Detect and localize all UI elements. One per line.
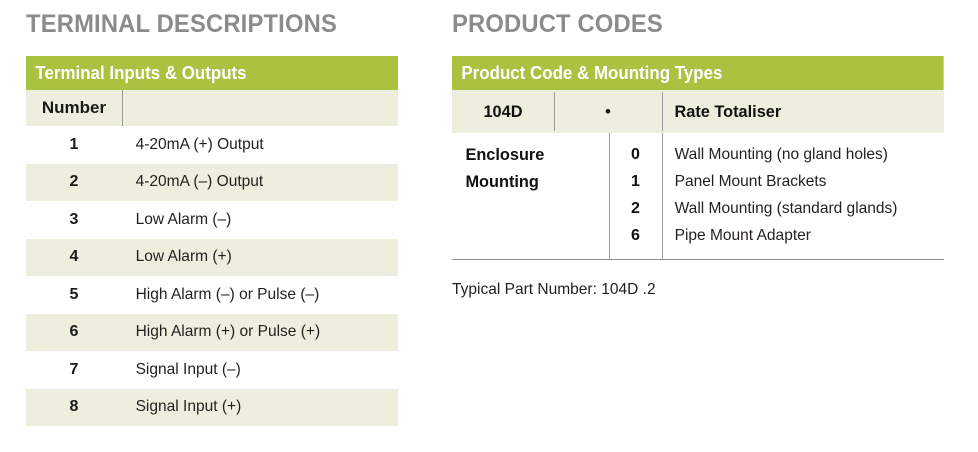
- group-title: Enclosure Mounting: [452, 141, 603, 249]
- list-item: 1 Panel Mount Brackets: [609, 168, 944, 195]
- terminal-number: 4: [26, 248, 122, 266]
- product-code-row: 104D • Rate Totaliser: [452, 90, 944, 133]
- typical-part-number: Typical Part Number: 104D .2: [452, 281, 656, 299]
- enclosure-mounting-group: Enclosure Mounting 0 Wall Mounting (no g…: [452, 133, 944, 259]
- option-code: 1: [609, 173, 662, 191]
- table-row: 4 Low Alarm (+): [26, 239, 398, 277]
- product-code-value: 104D: [454, 102, 552, 122]
- terminal-description: 4-20mA (+) Output: [122, 136, 390, 154]
- terminal-description: High Alarm (+) or Pulse (+): [122, 323, 390, 341]
- product-code-description: Rate Totaliser: [662, 102, 933, 122]
- page-root: TERMINAL DESCRIPTIONS Terminal Inputs & …: [0, 0, 978, 452]
- product-table-bottom-rule: [452, 259, 944, 260]
- terminal-number: 3: [26, 211, 122, 229]
- option-text: Wall Mounting (standard glands): [662, 200, 936, 218]
- group-title-line-2: Mounting: [465, 168, 602, 195]
- option-code: 2: [609, 200, 662, 218]
- product-code-mounting-types-table: Product Code & Mounting Types 104D • Rat…: [452, 56, 944, 260]
- terminal-number: 7: [26, 361, 122, 379]
- table-row: 1 4-20mA (+) Output: [26, 126, 398, 164]
- table-row: 6 High Alarm (+) or Pulse (+): [26, 314, 398, 352]
- terminal-table-column-header-row: Number: [26, 90, 398, 126]
- table-row: 3 Low Alarm (–): [26, 201, 398, 239]
- product-table-banner-wrap: Product Code & Mounting Types: [452, 56, 944, 90]
- terminal-number: 6: [26, 323, 122, 341]
- group-title-line-1: Enclosure: [465, 141, 602, 168]
- terminal-number: 1: [26, 136, 122, 154]
- terminal-description: 4-20mA (–) Output: [122, 173, 390, 191]
- product-table-banner: Product Code & Mounting Types: [452, 56, 944, 90]
- option-code: 0: [609, 146, 662, 164]
- terminal-description: Signal Input (+): [122, 398, 390, 416]
- terminal-number: 8: [26, 398, 122, 416]
- terminal-description: Low Alarm (–): [122, 211, 390, 229]
- column-header-number: Number: [26, 98, 122, 118]
- table-row: 7 Signal Input (–): [26, 351, 398, 389]
- terminal-table-banner: Terminal Inputs & Outputs: [26, 56, 398, 90]
- option-code: 6: [609, 227, 662, 245]
- bullet-icon: •: [554, 103, 662, 120]
- terminal-description: Signal Input (–): [122, 361, 390, 379]
- option-text: Panel Mount Brackets: [662, 173, 936, 191]
- mounting-options-list: 0 Wall Mounting (no gland holes) 1 Panel…: [609, 141, 944, 249]
- group-divider-1: [609, 133, 610, 259]
- product-codes-heading: PRODUCT CODES: [452, 10, 663, 38]
- product-code-divider-1: [554, 92, 555, 131]
- table-row: 5 High Alarm (–) or Pulse (–): [26, 276, 398, 314]
- terminal-table-body: Number 1 4-20mA (+) Output 2 4-20mA (–) …: [26, 90, 398, 426]
- terminal-descriptions-heading: TERMINAL DESCRIPTIONS: [26, 10, 337, 38]
- option-text: Pipe Mount Adapter: [662, 227, 936, 245]
- terminal-inputs-outputs-table: Terminal Inputs & Outputs Number 1 4-20m…: [26, 56, 398, 426]
- terminal-number: 2: [26, 173, 122, 191]
- terminal-table-banner-wrap: Terminal Inputs & Outputs: [26, 56, 398, 90]
- option-text: Wall Mounting (no gland holes): [662, 146, 936, 164]
- terminal-description: Low Alarm (+): [122, 248, 390, 266]
- list-item: 0 Wall Mounting (no gland holes): [609, 141, 944, 168]
- table-row: 2 4-20mA (–) Output: [26, 164, 398, 202]
- terminal-number: 5: [26, 286, 122, 304]
- table-row: 8 Signal Input (+): [26, 389, 398, 427]
- list-item: 2 Wall Mounting (standard glands): [609, 195, 944, 222]
- terminal-description: High Alarm (–) or Pulse (–): [122, 286, 390, 304]
- list-item: 6 Pipe Mount Adapter: [609, 222, 944, 249]
